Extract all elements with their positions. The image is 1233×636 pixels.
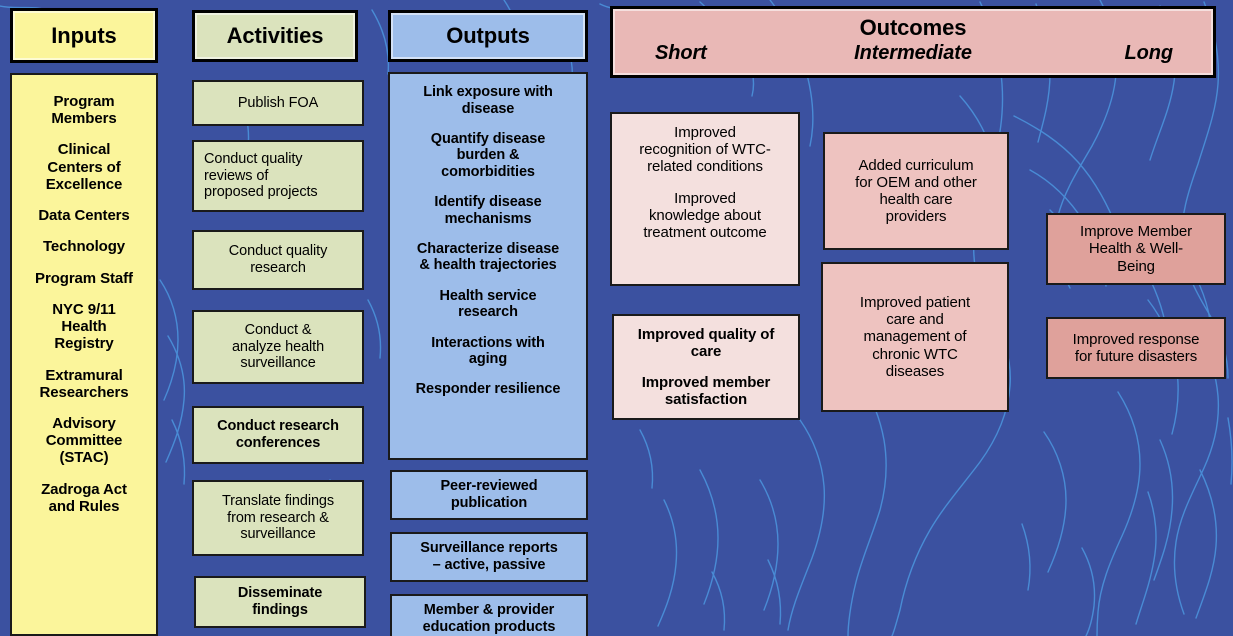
outcome-line: Improved <box>618 190 792 207</box>
inputs-list-box: Program Members Clinical Centers of Exce… <box>10 73 158 636</box>
outcome-line: Being <box>1054 258 1218 275</box>
activity-line: research <box>200 260 356 277</box>
output-line: disease <box>396 101 580 118</box>
output-box-member-provider-education: Member & provider education products <box>390 594 588 636</box>
inputs-item: and Rules <box>18 498 150 515</box>
outputs-list-box: Link exposure with disease Quantify dise… <box>388 72 588 460</box>
output-line: Surveillance reports <box>398 540 580 557</box>
outcome-line: recognition of WTC- <box>618 141 792 158</box>
output-line: burden & <box>396 147 580 164</box>
inputs-item: Registry <box>18 335 150 352</box>
header-inputs-label: Inputs <box>51 23 116 48</box>
output-line: research <box>396 304 580 321</box>
output-line: mechanisms <box>396 211 580 228</box>
output-line: comorbidities <box>396 164 580 181</box>
spacer <box>18 127 150 141</box>
output-line: Responder resilience <box>396 381 580 398</box>
outcome-line: Improved patient <box>829 294 1001 311</box>
spacer <box>396 274 580 288</box>
inputs-item: (STAC) <box>18 449 150 466</box>
logic-model-diagram: Inputs Activities Outputs Outcomes Short… <box>0 0 1233 636</box>
activity-box-conduct-research-conferences: Conduct research conferences <box>192 406 364 464</box>
activity-line: proposed projects <box>204 184 356 201</box>
spacer <box>18 224 150 238</box>
outcome-line: related conditions <box>618 158 792 175</box>
inputs-item: Clinical <box>18 141 150 158</box>
inputs-item: NYC 9/11 <box>18 301 150 318</box>
output-line: Health service <box>396 288 580 305</box>
activity-line: Conduct & <box>200 322 356 339</box>
spacer <box>620 360 792 374</box>
outcome-line: care and <box>829 311 1001 328</box>
outcome-line: chronic WTC <box>829 346 1001 363</box>
activity-line: Publish FOA <box>200 95 356 112</box>
inputs-item: Zadroga Act <box>18 481 150 498</box>
activity-line: Conduct quality <box>200 243 356 260</box>
activity-line: conferences <box>200 435 356 452</box>
output-line: Link exposure with <box>396 84 580 101</box>
activity-line: from research & <box>200 510 356 527</box>
spacer <box>396 117 580 131</box>
output-line: education products <box>398 619 580 636</box>
inputs-item: Advisory <box>18 415 150 432</box>
inputs-item: Health <box>18 318 150 335</box>
outcome-line: health care <box>831 191 1001 208</box>
outcome-long-box-improve-member-health: Improve Member Health & Well- Being <box>1046 213 1226 285</box>
outcome-line: treatment outcome <box>618 224 792 241</box>
activity-box-conduct-quality-research: Conduct quality research <box>192 230 364 290</box>
outcome-line: diseases <box>829 363 1001 380</box>
spacer <box>396 321 580 335</box>
outcome-intermediate-box-improved-patient-care: Improved patient care and management of … <box>821 262 1009 412</box>
output-line: Peer-reviewed <box>398 478 580 495</box>
spacer <box>396 368 580 382</box>
spacer <box>18 401 150 415</box>
inputs-item: Technology <box>18 238 150 255</box>
output-line: Identify disease <box>396 194 580 211</box>
outcome-line: Improved member <box>620 374 792 391</box>
activity-line: surveillance <box>200 355 356 372</box>
outcome-line: providers <box>831 208 1001 225</box>
inputs-item: Excellence <box>18 176 150 193</box>
outcome-line: Improved quality of <box>620 326 792 343</box>
outcome-line: Improve Member <box>1054 223 1218 240</box>
spacer <box>18 287 150 301</box>
outcome-intermediate-box-added-curriculum: Added curriculum for OEM and other healt… <box>823 132 1009 250</box>
spacer <box>618 175 792 189</box>
spacer <box>18 193 150 207</box>
output-line: aging <box>396 351 580 368</box>
output-line: publication <box>398 495 580 512</box>
header-outcomes-intermediate: Intermediate <box>613 42 1213 65</box>
activity-line: Conduct research <box>200 418 356 435</box>
activity-box-conduct-analyze-surveillance: Conduct & analyze health surveillance <box>192 310 364 384</box>
header-inputs: Inputs <box>10 8 158 63</box>
inputs-list: Program Members Clinical Centers of Exce… <box>18 93 150 515</box>
output-line: Quantify disease <box>396 131 580 148</box>
activity-line: Disseminate <box>202 585 358 602</box>
outputs-list: Link exposure with disease Quantify dise… <box>396 84 580 398</box>
outcome-line: Added curriculum <box>831 157 1001 174</box>
activity-box-publish-foa: Publish FOA <box>192 80 364 126</box>
outcome-short-box-improved-recognition: Improved recognition of WTC- related con… <box>610 112 800 286</box>
inputs-item: Centers of <box>18 159 150 176</box>
outcome-line: for OEM and other <box>831 174 1001 191</box>
outcome-line: Improved <box>618 124 792 141</box>
inputs-item: Program Staff <box>18 270 150 287</box>
outcome-line: for future disasters <box>1054 348 1218 365</box>
inputs-item: Researchers <box>18 384 150 401</box>
outcome-line: knowledge about <box>618 207 792 224</box>
header-outputs: Outputs <box>388 10 588 62</box>
activity-box-disseminate-findings: Disseminate findings <box>194 576 366 628</box>
inputs-item: Extramural <box>18 367 150 384</box>
outcome-line: Improved response <box>1054 331 1218 348</box>
header-outputs-label: Outputs <box>446 23 530 48</box>
activity-line: surveillance <box>200 526 356 543</box>
output-line: – active, passive <box>398 557 580 574</box>
output-line: Member & provider <box>398 602 580 619</box>
outcome-long-box-improved-response-disasters: Improved response for future disasters <box>1046 317 1226 379</box>
output-line: & health trajectories <box>396 257 580 274</box>
spacer <box>18 466 150 480</box>
activity-line: reviews of <box>204 168 356 185</box>
output-line: Interactions with <box>396 335 580 352</box>
outcome-short-box-improved-quality-of-care: Improved quality of care Improved member… <box>612 314 800 420</box>
spacer <box>18 352 150 366</box>
outcome-line: Health & Well- <box>1054 240 1218 257</box>
activity-box-translate-findings: Translate findings from research & surve… <box>192 480 364 556</box>
header-activities-label: Activities <box>227 23 324 48</box>
outcome-line: satisfaction <box>620 391 792 408</box>
activity-line: analyze health <box>200 339 356 356</box>
activity-box-conduct-quality-reviews: Conduct quality reviews of proposed proj… <box>192 140 364 212</box>
inputs-item: Program <box>18 93 150 110</box>
output-box-surveillance-reports: Surveillance reports – active, passive <box>390 532 588 582</box>
activity-line: Conduct quality <box>204 151 356 168</box>
header-outcomes-long: Long <box>1125 42 1173 65</box>
output-line: Characterize disease <box>396 241 580 258</box>
activity-line: findings <box>202 602 358 619</box>
inputs-item: Data Centers <box>18 207 150 224</box>
spacer <box>396 180 580 194</box>
spacer <box>396 227 580 241</box>
activity-line: Translate findings <box>200 493 356 510</box>
inputs-item: Members <box>18 110 150 127</box>
outcome-line: management of <box>829 328 1001 345</box>
header-activities: Activities <box>192 10 358 62</box>
outcome-line: care <box>620 343 792 360</box>
header-outcomes-title: Outcomes <box>613 15 1213 40</box>
spacer <box>18 255 150 269</box>
output-box-peer-reviewed-publication: Peer-reviewed publication <box>390 470 588 520</box>
inputs-item: Committee <box>18 432 150 449</box>
header-outcomes: Outcomes Short Intermediate Long <box>610 6 1216 78</box>
